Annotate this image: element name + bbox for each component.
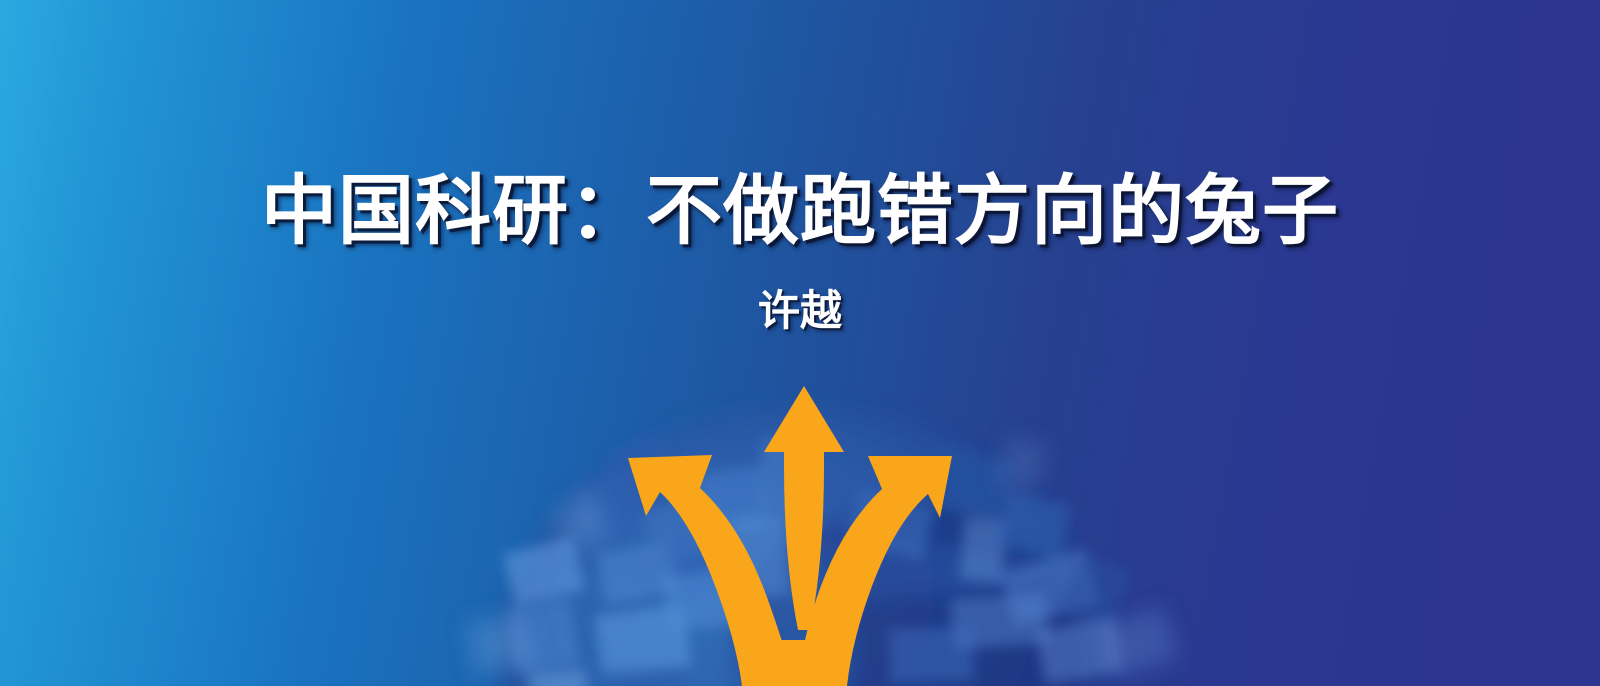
- page-title: 中国科研：不做跑错方向的兔子: [0, 173, 1600, 249]
- author-name: 许越: [0, 290, 1600, 332]
- presentation-slide: 中国科研：不做跑错方向的兔子 许越: [0, 0, 1600, 686]
- slide-text-layer: 中国科研：不做跑错方向的兔子 许越: [0, 0, 1600, 686]
